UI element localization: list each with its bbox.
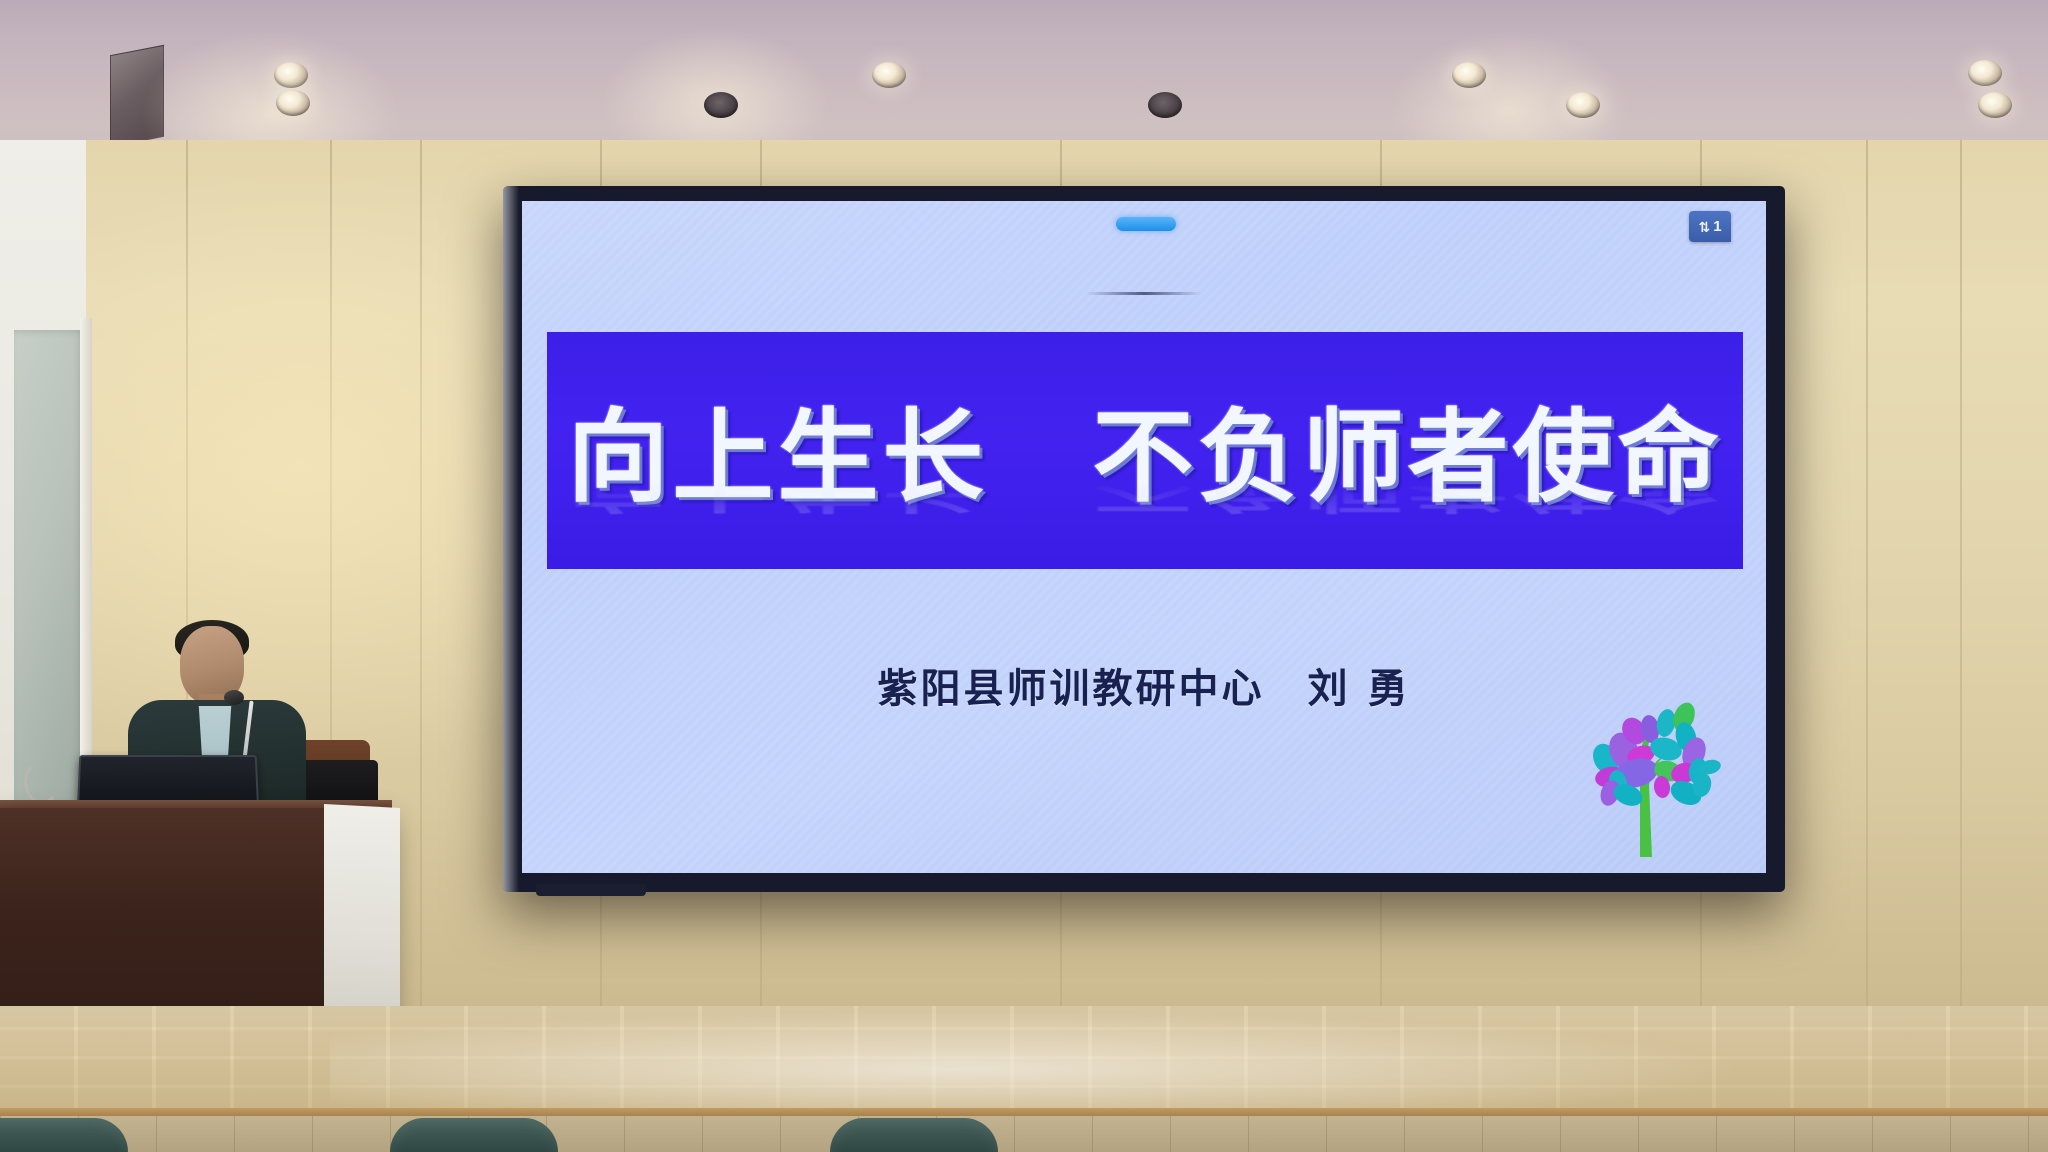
bezel-highlight [503,186,519,892]
ceiling-downlight [274,62,308,88]
ceiling-downlight-off [704,92,738,118]
ceiling-downlight [1452,62,1486,88]
audience-seat [830,1118,998,1152]
presentation-display[interactable]: ⇅ 1 向上生长 不负师者使命 向上生长 不负师者使命 紫阳县师训教研中心 刘 … [503,186,1785,892]
ceiling-downlight [872,62,906,88]
page-number-value: 1 [1713,218,1721,235]
slide-title-band: 向上生长 不负师者使命 向上生长 不负师者使命 [547,332,1743,569]
microphone-head [224,690,244,705]
stage-front-face [0,1116,2048,1152]
ceiling-downlight-off [1148,92,1182,118]
ceiling-downlight [1566,92,1600,118]
audience-seat [390,1118,558,1152]
ceiling-downlight [1968,60,2002,86]
ceiling-vent [110,45,164,147]
display-stand [536,884,646,896]
page-number-badge[interactable]: ⇅ 1 [1689,211,1731,242]
ceiling-downlight [1978,92,2012,118]
slide-canvas: ⇅ 1 向上生长 不负师者使命 向上生长 不负师者使命 紫阳县师训教研中心 刘 … [522,201,1766,873]
slide-title: 向上生长 不负师者使命 [567,376,1722,522]
lecture-hall-scene: ⇅ 1 向上生长 不负师者使命 向上生长 不负师者使命 紫阳县师训教研中心 刘 … [0,0,2048,1152]
up-down-arrow-icon: ⇅ [1698,220,1708,234]
ceiling-downlight [276,90,310,116]
tree-logo [1570,685,1722,857]
stage-floor-glare [330,1012,1730,1108]
audience-seat [0,1118,128,1152]
podium-cable [24,760,60,804]
slide-top-pill-decoration [1116,217,1176,231]
slide-top-divider [1086,292,1202,295]
